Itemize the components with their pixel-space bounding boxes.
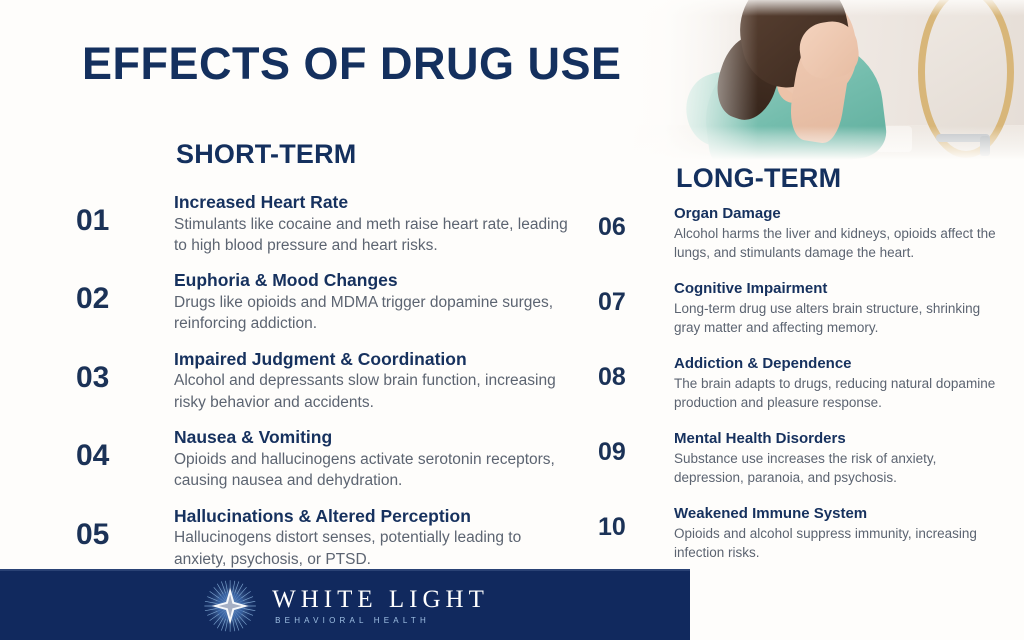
item-number: 02	[76, 270, 174, 334]
item-description: The brain adapts to drugs, reducing natu…	[674, 374, 1004, 412]
item-title: Impaired Judgment & Coordination	[174, 349, 576, 370]
list-item: 10 Weakened Immune System Opioids and al…	[598, 505, 1018, 562]
item-number: 08	[598, 355, 674, 412]
list-item: 07 Cognitive Impairment Long-term drug u…	[598, 280, 1018, 337]
list-item: 04 Nausea & Vomiting Opioids and halluci…	[76, 427, 576, 491]
list-item: 01 Increased Heart Rate Stimulants like …	[76, 192, 576, 256]
item-description: Opioids and alcohol suppress immunity, i…	[674, 524, 1004, 562]
item-number: 09	[598, 430, 674, 487]
footer-bar: WHITE LIGHT BEHAVIORAL HEALTH	[0, 569, 690, 640]
item-description: Drugs like opioids and MDMA trigger dopa…	[174, 292, 574, 335]
header-photo	[628, 0, 1024, 160]
item-body: Hallucinations & Altered Perception Hall…	[174, 506, 576, 570]
item-number: 01	[76, 192, 174, 256]
brand-name: WHITE LIGHT	[272, 587, 489, 612]
item-body: Addiction & Dependence The brain adapts …	[674, 355, 1018, 412]
infographic-poster: EFFECTS OF DRUG USE SHORT-TERM LONG-TERM…	[0, 0, 1024, 640]
list-item: 03 Impaired Judgment & Coordination Alco…	[76, 349, 576, 413]
item-description: Alcohol and depressants slow brain funct…	[174, 370, 574, 413]
item-title: Nausea & Vomiting	[174, 427, 576, 448]
item-description: Stimulants like cocaine and meth raise h…	[174, 214, 574, 257]
list-item: 08 Addiction & Dependence The brain adap…	[598, 355, 1018, 412]
brand-lockup: WHITE LIGHT BEHAVIORAL HEALTH	[201, 577, 489, 635]
item-body: Impaired Judgment & Coordination Alcohol…	[174, 349, 576, 413]
list-item: 09 Mental Health Disorders Substance use…	[598, 430, 1018, 487]
item-body: Nausea & Vomiting Opioids and hallucinog…	[174, 427, 576, 491]
item-description: Substance use increases the risk of anxi…	[674, 449, 1004, 487]
item-title: Weakened Immune System	[674, 505, 1018, 523]
short-term-heading: SHORT-TERM	[176, 139, 357, 170]
item-title: Addiction & Dependence	[674, 355, 1018, 373]
item-title: Mental Health Disorders	[674, 430, 1018, 448]
item-body: Cognitive Impairment Long-term drug use …	[674, 280, 1018, 337]
item-number: 06	[598, 205, 674, 262]
short-term-list: 01 Increased Heart Rate Stimulants like …	[76, 192, 576, 584]
long-term-heading: LONG-TERM	[676, 163, 841, 194]
long-term-list: 06 Organ Damage Alcohol harms the liver …	[598, 205, 1018, 580]
item-number: 07	[598, 280, 674, 337]
item-title: Increased Heart Rate	[174, 192, 576, 213]
item-number: 05	[76, 506, 174, 570]
item-description: Hallucinogens distort senses, potentiall…	[174, 527, 574, 570]
item-description: Opioids and hallucinogens activate serot…	[174, 449, 574, 492]
item-title: Cognitive Impairment	[674, 280, 1018, 298]
page-title: EFFECTS OF DRUG USE	[82, 40, 622, 87]
item-description: Long-term drug use alters brain structur…	[674, 299, 1004, 337]
item-number: 04	[76, 427, 174, 491]
item-title: Organ Damage	[674, 205, 1018, 223]
list-item: 05 Hallucinations & Altered Perception H…	[76, 506, 576, 570]
item-description: Alcohol harms the liver and kidneys, opi…	[674, 224, 1004, 262]
item-number: 03	[76, 349, 174, 413]
item-number: 10	[598, 505, 674, 562]
item-body: Increased Heart Rate Stimulants like coc…	[174, 192, 576, 256]
item-body: Organ Damage Alcohol harms the liver and…	[674, 205, 1018, 262]
list-item: 02 Euphoria & Mood Changes Drugs like op…	[76, 270, 576, 334]
photo-fade-bottom	[628, 126, 1024, 160]
list-item: 06 Organ Damage Alcohol harms the liver …	[598, 205, 1018, 262]
four-point-star-burst-icon	[201, 577, 259, 635]
item-body: Euphoria & Mood Changes Drugs like opioi…	[174, 270, 576, 334]
item-title: Euphoria & Mood Changes	[174, 270, 576, 291]
item-body: Weakened Immune System Opioids and alcoh…	[674, 505, 1018, 562]
brand-tagline: BEHAVIORAL HEALTH	[272, 617, 489, 625]
item-title: Hallucinations & Altered Perception	[174, 506, 576, 527]
item-body: Mental Health Disorders Substance use in…	[674, 430, 1018, 487]
brand-text: WHITE LIGHT BEHAVIORAL HEALTH	[272, 587, 489, 625]
